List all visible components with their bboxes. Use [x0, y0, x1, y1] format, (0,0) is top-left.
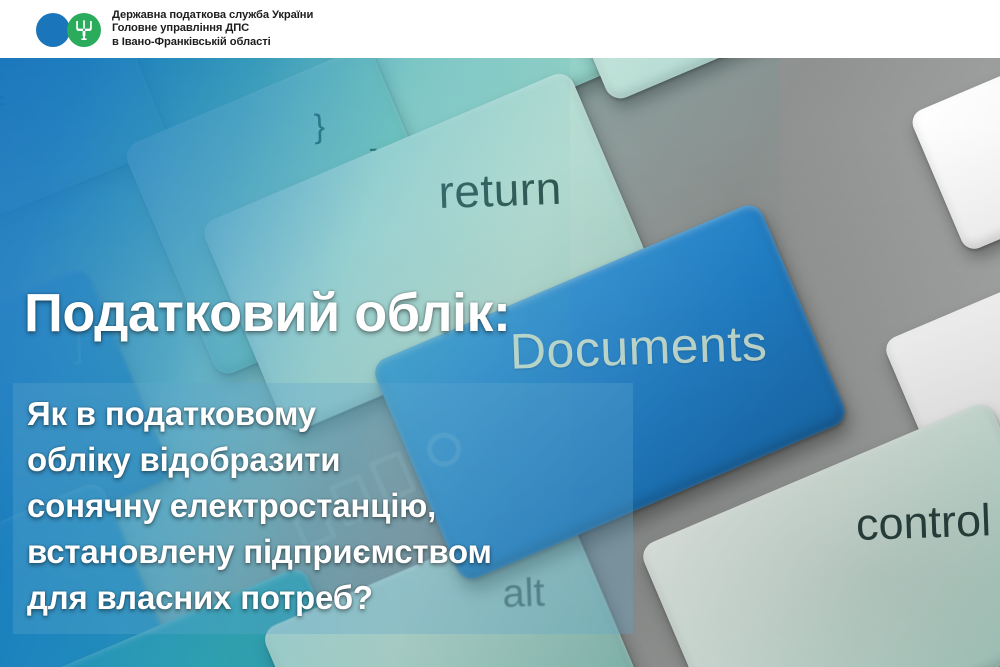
- banner-page: Державна податкова служба України Головн…: [0, 0, 1000, 667]
- organization-name: Державна податкова служба України Головн…: [112, 9, 313, 50]
- trident-tryzub-icon: [74, 19, 94, 41]
- subtitle-line-5: для власних потреб?: [27, 575, 627, 621]
- org-line-3: в Івано-Франківській області: [112, 36, 313, 50]
- keyboard-photo: = } ] ] return alt Documents control: [0, 58, 1000, 667]
- banner-title: Податковий облік:: [24, 283, 511, 343]
- subtitle-line-4: встановлену підприємством: [27, 529, 627, 575]
- org-line-2: Головне управління ДПС: [112, 22, 313, 36]
- site-header: Державна податкова служба України Головн…: [0, 0, 1000, 58]
- dps-ukraine-logo: [36, 13, 102, 47]
- org-line-1: Державна податкова служба України: [112, 9, 313, 23]
- subtitle-line-2: обліку відобразити: [27, 437, 627, 483]
- subtitle-line-3: сонячну електростанцію,: [27, 483, 627, 529]
- logo-blue-circle: [36, 13, 70, 47]
- subtitle-line-1: Як в податковому: [27, 391, 627, 437]
- banner-subtitle: Як в податковому обліку відобразити соня…: [27, 391, 627, 621]
